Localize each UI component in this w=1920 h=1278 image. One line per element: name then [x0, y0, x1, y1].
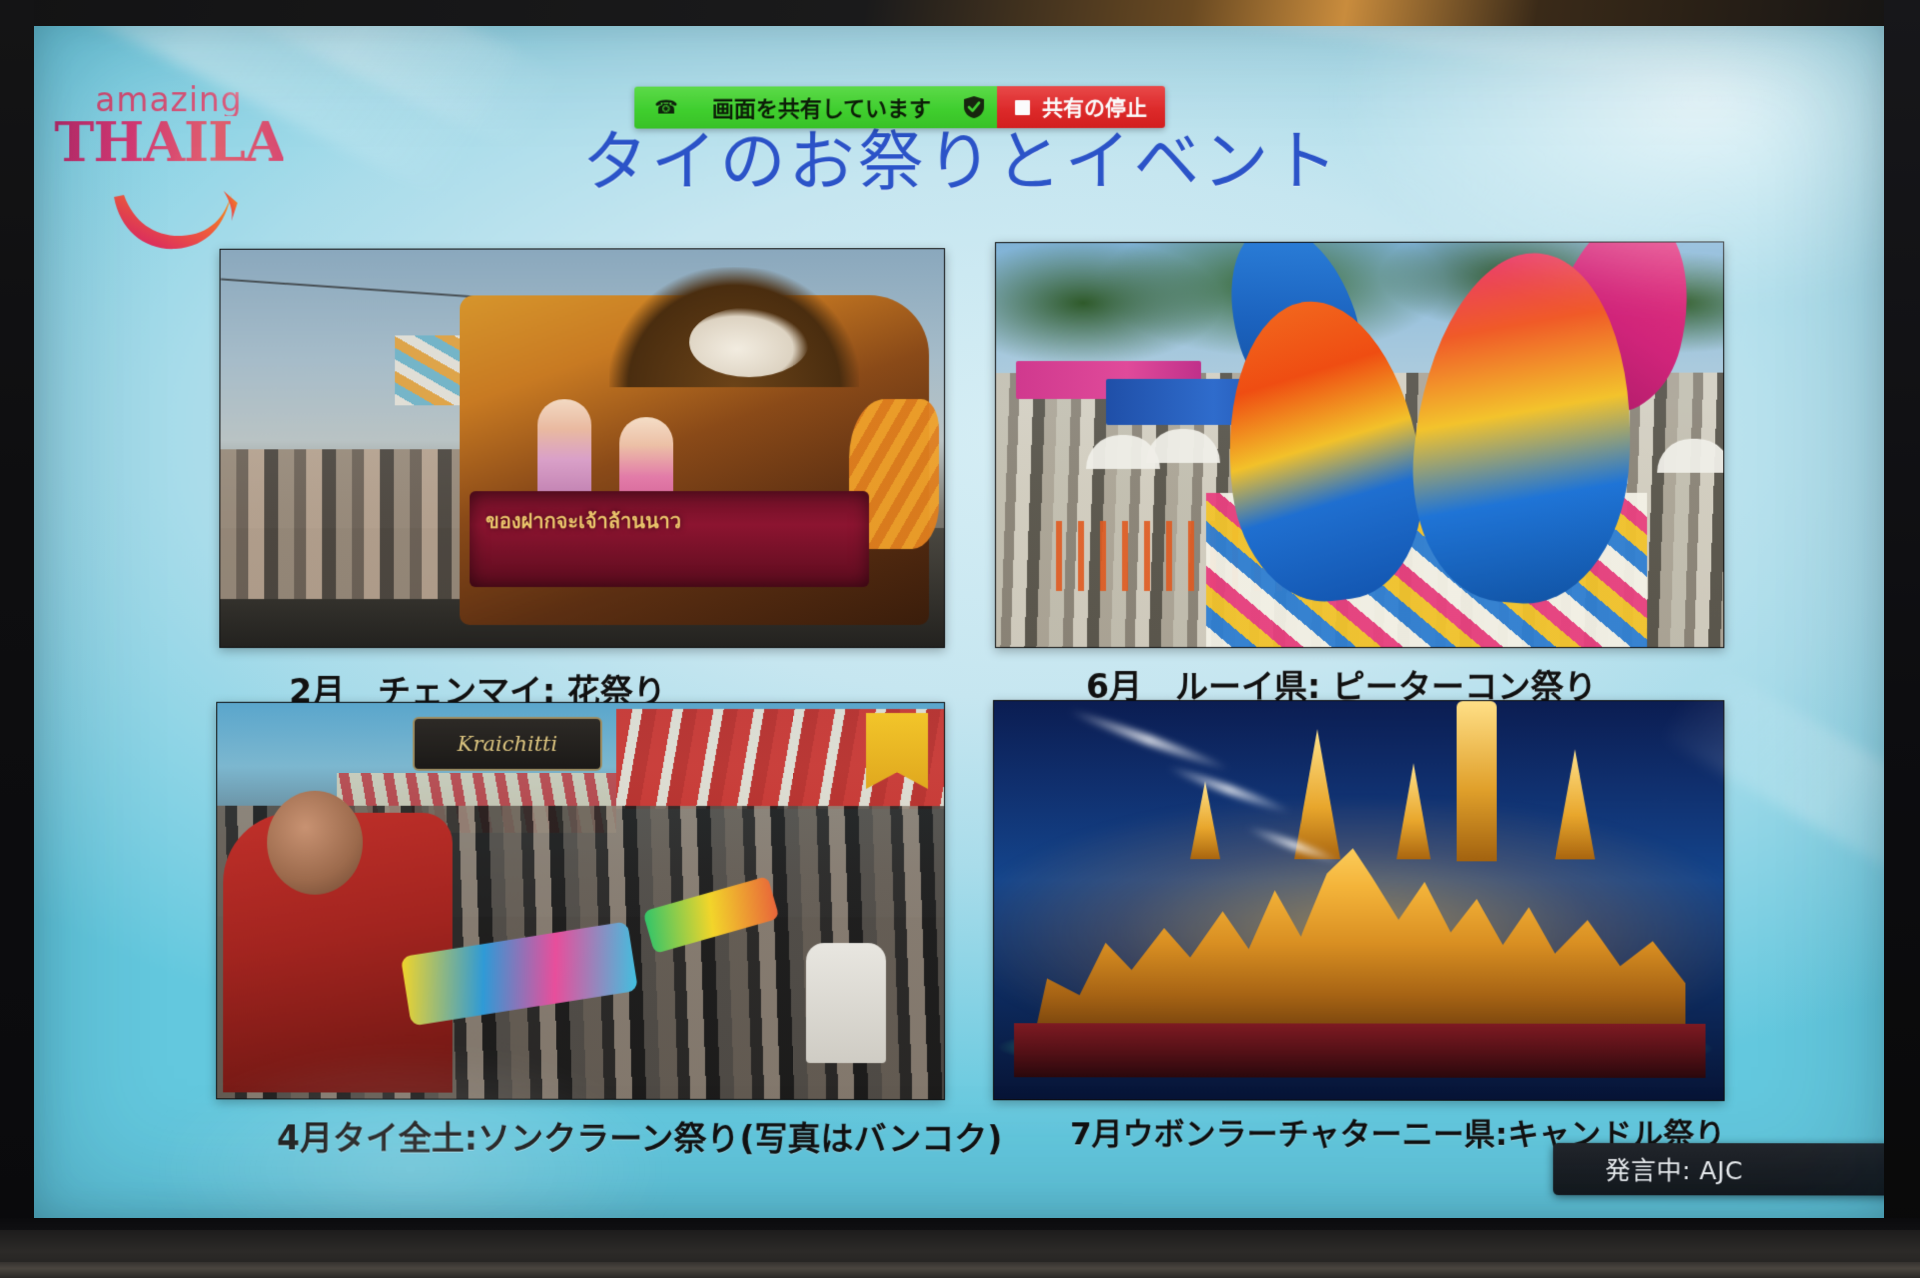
phone-icon: ☎	[654, 98, 678, 117]
active-speaker-label: 発言中: AJC	[1605, 1151, 1743, 1187]
table-edge	[0, 1262, 1920, 1278]
flower-festival-parade-float-photo: ของฝากจะเจ้าล้านนาว	[219, 248, 945, 648]
active-speaker-badge: 発言中: AJC	[1553, 1143, 1894, 1196]
share-status-group: ☎ 画面を共有しています	[634, 86, 949, 128]
tv-bezel-left	[0, 0, 34, 1278]
stop-share-button[interactable]: 共有の停止	[997, 86, 1165, 128]
share-status-label: 画面を共有しています	[712, 91, 931, 123]
check-shield-icon[interactable]	[949, 86, 997, 128]
tv-bezel-top	[0, 0, 1920, 26]
stop-square-icon	[1015, 100, 1030, 115]
stop-share-label: 共有の停止	[1042, 92, 1147, 122]
tv-photograph: amazing THAILAND タイのお祭りとイベント ☎ 画面を	[0, 0, 1920, 1278]
candle-festival-night-photo	[993, 700, 1725, 1101]
tv-bezel-right	[1884, 0, 1920, 1278]
float-banner-text: ของฝากจะเจ้าล้านนาว	[486, 505, 853, 573]
photo-caption-songkran: 4月タイ全土:ソンクラーン祭り(写真はバンコク)	[277, 1111, 1003, 1160]
screen-share-toolbar[interactable]: ☎ 画面を共有しています 共有の停止	[634, 86, 1165, 129]
shared-screen: amazing THAILAND タイのお祭りとイベント ☎ 画面を	[32, 9, 1895, 1224]
street-sign-text: Kraichitti	[415, 719, 601, 769]
phi-ta-khon-masks-photo	[995, 241, 1724, 648]
songkran-water-fight-photo: Kraichitti	[216, 702, 945, 1100]
